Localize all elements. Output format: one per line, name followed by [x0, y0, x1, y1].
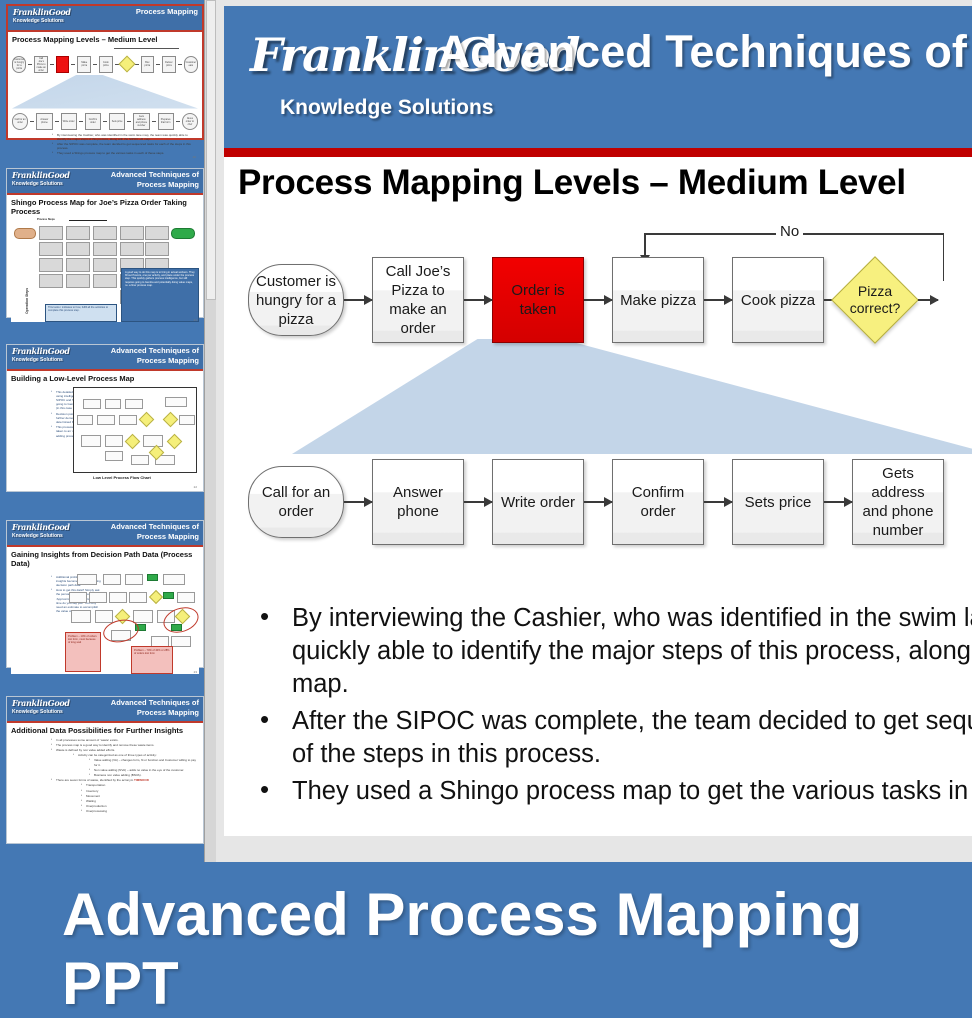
node	[125, 574, 143, 585]
bullet-item-3: They used a Shingo process map to get th…	[238, 775, 972, 808]
deck-header-title: Advanced Techniques of Process Mapping	[438, 26, 972, 78]
node	[95, 610, 113, 623]
flow-connector	[824, 501, 852, 503]
node	[89, 592, 107, 603]
thumbnail-bullet-list: By interviewing the Cashier, who was ide…	[12, 133, 198, 156]
list-item: They used a Shingo process map to get th…	[52, 151, 198, 155]
brand-logo-mini: FranklinGood Knowledge Solutions	[12, 347, 70, 365]
node	[66, 258, 90, 272]
node	[105, 399, 121, 409]
divider-red-bar	[224, 148, 972, 157]
mini-connector	[30, 121, 34, 122]
node	[179, 415, 195, 425]
thumbnail-slide-1[interactable]: FranklinGood Knowledge Solutions Process…	[6, 4, 204, 140]
page-title: Process Mapping Levels – Medium Level	[238, 163, 972, 203]
axis-label-x: Process Steps	[37, 218, 55, 221]
brand-tagline-mini: Knowledge Solutions	[13, 17, 71, 26]
thumbnail-header-title: Advanced Techniques ofProcess Mapping	[111, 522, 199, 542]
thumbnail-slide-5[interactable]: FranklinGood Knowledge Solutions Advance…	[6, 696, 204, 844]
flow-node-write-order: Write order	[492, 459, 584, 545]
node	[97, 415, 115, 425]
thumbnail-header: FranklinGood Knowledge Solutions Advance…	[7, 169, 203, 193]
flow-node-call-order: Call for an order	[248, 466, 344, 538]
mini-node: Deliver pizza	[162, 56, 176, 73]
acronym-timwood: TIMWOOD	[134, 778, 149, 782]
flow-node-cook: Cook pizza	[732, 257, 824, 343]
thumbnail-slide-title: Gaining Insights from Decision Path Data…	[11, 550, 199, 568]
bullet-line: quickly able to identify the major steps…	[292, 637, 972, 665]
list-item: The process map is a good way to identif…	[51, 743, 199, 747]
mini-node: Call for an order	[12, 113, 28, 130]
list-item: Value adding (VA) – changes form, fit or…	[89, 758, 199, 766]
node	[93, 226, 117, 240]
flow-connector	[704, 299, 732, 301]
callout-right: A good way to do this map is to bring in…	[121, 268, 199, 322]
bullet-line: of the steps in this process.	[292, 740, 601, 768]
bullet-line: map.	[292, 670, 349, 698]
mini-node-highlight: Order is taken	[56, 56, 70, 73]
thumbnail-header: FranklinGood Knowledge Solutions Advance…	[7, 521, 203, 545]
thumbnail-page-number: 20	[193, 155, 196, 159]
thumbnail-body: Additional Data Possibilities for Furthe…	[7, 723, 203, 819]
node	[119, 415, 137, 425]
thumbnail-slide-title: Shingo Process Map for Joe’s Pizza Order…	[11, 198, 199, 216]
node	[66, 242, 90, 256]
thumbnail-page-number: 21	[194, 318, 197, 322]
list-item: Inventory	[81, 789, 199, 793]
thumbnail-artwork: Additional problem/root cause insights b…	[11, 570, 199, 674]
list-item: Transportation	[81, 783, 199, 787]
mini-zoom-fan	[12, 75, 198, 109]
slide-header: FranklinGood Knowledge Solutions Advance…	[224, 6, 972, 148]
slide-canvas[interactable]: FranklinGood Knowledge Solutions Advance…	[224, 6, 972, 836]
flow-node-label: Order is taken	[497, 281, 579, 319]
node	[105, 435, 123, 447]
mini-connector	[176, 121, 180, 122]
node	[163, 574, 185, 585]
node	[81, 435, 101, 447]
brand-tagline-mini: Knowledge Solutions	[12, 356, 70, 365]
callout-text: Problem – 70% of 40% or 28% of orders lo…	[134, 649, 170, 656]
node	[93, 274, 117, 288]
feedback-loop-no: No	[644, 221, 944, 257]
mini-node: Gets address and phone number	[133, 113, 149, 130]
node	[109, 592, 127, 603]
thumbnail-header: FranklinGood Knowledge Solutions Advance…	[7, 697, 203, 721]
thumbnail-header-title: Advanced Techniques ofProcess Mapping	[111, 698, 199, 718]
loop-label-no: No	[776, 223, 803, 240]
mini-node: Cook pizza	[99, 56, 113, 73]
mini-node: Confirm order	[85, 113, 101, 130]
list-item: Activity can be categorized as one of th…	[73, 753, 199, 757]
node	[103, 574, 121, 585]
node	[131, 455, 149, 465]
flow-connector	[704, 501, 732, 503]
node	[177, 592, 195, 603]
thumbnail-page-number: 23	[194, 670, 197, 674]
flow-node-gets-address: Gets address and phone number	[852, 459, 944, 545]
flow-node-sets-price: Sets price	[732, 459, 824, 545]
flow-connector	[584, 501, 612, 503]
node	[39, 242, 63, 256]
mini-flow-row-bottom: Call for an order Answer phone Write ord…	[12, 113, 198, 130]
list-item: Business non value adding (BNVA).	[89, 773, 199, 777]
node	[145, 242, 169, 256]
node	[66, 274, 90, 288]
mini-connector	[156, 64, 160, 65]
node	[143, 435, 163, 447]
flow-node-order-highlight: Order is taken	[492, 257, 584, 343]
thumbnail-header-title: Advanced Techniques ofProcess Mapping	[111, 346, 199, 366]
thumbnail-body: Process Mapping Levels – Medium Level Cu…	[8, 32, 202, 161]
mini-connector	[178, 64, 182, 65]
callout-text: This looks / indicates to how, fulfill a…	[48, 306, 114, 313]
slide-bullets: By interviewing the Cashier, who was ide…	[238, 602, 972, 812]
mini-connector	[71, 64, 75, 65]
list-item: Overproduction	[81, 804, 199, 808]
data-badge	[147, 574, 158, 581]
thumbnail-slide-title: Process Mapping Levels – Medium Level	[12, 35, 198, 44]
mini-flow-row-top: Customer is hungry for a pizza Call Joe’…	[12, 56, 198, 73]
brand-logo-mini: FranklinGood Knowledge Solutions	[13, 8, 71, 26]
brand-logo-mini: FranklinGood Knowledge Solutions	[12, 699, 70, 717]
mini-node: Customer eats	[184, 56, 198, 73]
node	[77, 415, 93, 425]
brand-logo-mini: FranklinGood Knowledge Solutions	[12, 523, 70, 541]
mini-connector	[103, 121, 107, 122]
thumbnail-page-number: 22	[194, 485, 197, 489]
scrollbar-thumb[interactable]	[206, 0, 216, 300]
thumbnail-slide-3[interactable]: FranklinGood Knowledge Solutions Advance…	[6, 344, 204, 492]
flow-node-decision: Pizza correct?	[831, 256, 919, 344]
node	[120, 242, 144, 256]
flow-connector	[584, 299, 612, 301]
list-item: Waiting	[81, 799, 199, 803]
mini-feedback-line	[12, 46, 198, 52]
mini-connector	[127, 121, 131, 122]
node	[120, 226, 144, 240]
node	[145, 226, 169, 240]
mini-connector	[152, 121, 156, 122]
node	[66, 226, 90, 240]
slide-viewport: FranklinGood Knowledge Solutions Advance…	[216, 0, 972, 862]
flow-connector	[918, 299, 938, 301]
flow-node-confirm-order: Confirm order	[612, 459, 704, 545]
mini-node: Write order	[61, 113, 77, 130]
thumbnail-header-title: Process Mapping	[136, 7, 198, 17]
thumbnail-body: Shingo Process Map for Joe’s Pizza Order…	[7, 195, 203, 324]
node	[171, 636, 191, 647]
node	[39, 274, 63, 288]
flow-row-bottom: Call for an order Answer phone Write ord…	[248, 459, 944, 545]
thumbnail-body: Gaining Insights from Decision Path Data…	[7, 547, 203, 676]
node	[125, 399, 143, 409]
node-decision	[149, 589, 163, 603]
flow-node-label: Pizza correct?	[849, 283, 901, 317]
node	[105, 451, 123, 461]
thumbnail-rail[interactable]: FranklinGood Knowledge Solutions Process…	[0, 0, 216, 862]
callout-text: A good way to do this map is to bring in…	[125, 271, 195, 288]
flow-diagram: No Customer is hungry for a pizza Call J…	[224, 209, 972, 539]
thumbnail-header: FranklinGood Knowledge Solutions Advance…	[7, 345, 203, 369]
flow-connector	[464, 299, 492, 301]
mini-node-decision	[118, 56, 135, 73]
axis-label-y: Operation Steps	[25, 287, 29, 313]
list-item: After the SIPOC was complete, the team d…	[52, 142, 198, 150]
node	[93, 258, 117, 272]
node	[39, 226, 63, 240]
node	[93, 242, 117, 256]
data-badge	[163, 592, 174, 599]
thumbnail-slide-title: Additional Data Possibilities for Furthe…	[11, 726, 199, 735]
list-item: Non value adding (NVA) – adds no value i…	[89, 768, 199, 772]
callout-problem-1: Problem – 10% of orders lost form, must …	[65, 632, 101, 672]
thumbnail-header: FranklinGood Knowledge Solutions Process…	[8, 6, 202, 30]
list-item: Overprocessing	[81, 809, 199, 813]
node-end	[171, 228, 195, 239]
thumbnail-slide-2[interactable]: FranklinGood Knowledge Solutions Advance…	[6, 168, 204, 318]
mini-connector	[93, 64, 97, 65]
thumbnail-body: Building a Low-Level Process Map This de…	[7, 371, 203, 491]
mini-node: Gives order to chef	[182, 113, 198, 130]
thumbnail-slide-4[interactable]: FranklinGood Knowledge Solutions Advance…	[6, 520, 204, 668]
bullet-item-2: After the SIPOC was complete, the team d…	[238, 705, 972, 771]
list-item: There are seven forms of waste, identifi…	[51, 778, 199, 782]
flow-node-start: Customer is hungry for a pizza	[248, 264, 344, 336]
mini-node: Answer phone	[36, 113, 52, 130]
mini-connector	[28, 64, 32, 65]
mini-connector	[55, 121, 59, 122]
callout-text: Problem – 10% of orders lost form, must …	[68, 635, 98, 645]
node	[83, 399, 101, 409]
node	[69, 592, 87, 603]
flow-node-call: Call Joe’s Pizza to make an order	[372, 257, 464, 343]
brand-tagline-mini: Knowledge Solutions	[12, 708, 70, 717]
mini-node: Call Joe’s Pizza to make an order	[34, 56, 48, 73]
brand-tagline: Knowledge Solutions	[280, 96, 494, 120]
deck-caption: Advanced Process Mapping PPT	[62, 880, 972, 1018]
node	[39, 258, 63, 272]
loop-line-right	[943, 233, 945, 281]
thumbnail-artwork: Process Steps Operation Steps	[11, 218, 199, 322]
thumbnail-artwork: This detailed map can be combined using …	[11, 385, 199, 489]
bullet-item-1: By interviewing the Cashier, who was ide…	[238, 602, 972, 701]
list-item: In all processes some amount of ‘waste’ …	[51, 738, 199, 742]
callout-problem-2: Problem – 70% of 40% or 28% of orders lo…	[131, 646, 173, 674]
thumbnail-slide-title: Building a Low-Level Process Map	[11, 374, 199, 383]
flow-row-top: Customer is hungry for a pizza Call Joe’…	[248, 257, 938, 343]
node	[165, 397, 187, 407]
brand-tagline-mini: Knowledge Solutions	[12, 532, 70, 541]
brand-tagline-mini: Knowledge Solutions	[12, 180, 70, 189]
annotation-ellipse	[160, 603, 202, 637]
mini-node: Customer is hungry for a pizza	[12, 56, 26, 73]
bullet-line: By interviewing the Cashier, who was ide…	[292, 604, 972, 632]
node	[71, 610, 91, 623]
brand-logo-mini: FranklinGood Knowledge Solutions	[12, 171, 70, 189]
axis-arrow-x	[69, 220, 107, 221]
flow-node-answer-phone: Answer phone	[372, 459, 464, 545]
mini-node: Sets price	[109, 113, 125, 130]
mini-connector	[50, 64, 54, 65]
list-item: By interviewing the Cashier, who was ide…	[52, 133, 198, 141]
bullet-line: After the SIPOC was complete, the team d…	[292, 707, 972, 735]
bullet-line: They used a Shingo process map to get th…	[292, 777, 972, 805]
node	[133, 610, 153, 623]
node	[129, 592, 147, 603]
mini-node: Prepares that form	[158, 113, 174, 130]
callout-left: This looks / indicates to how, fulfill a…	[45, 304, 117, 322]
flow-node-make: Make pizza	[612, 257, 704, 343]
thumbnail-header-title: Advanced Techniques ofProcess Mapping	[111, 170, 199, 190]
mini-node: Box pizza	[141, 56, 155, 73]
node-start	[14, 228, 36, 239]
mini-connector	[79, 121, 83, 122]
mini-node: Make pizza	[77, 56, 91, 73]
chart-caption: Low Level Process Flow Chart	[93, 475, 151, 480]
list-item: Movement	[81, 794, 199, 798]
flow-connector	[344, 501, 372, 503]
flow-connector	[344, 299, 372, 301]
bullet-list: By interviewing the Cashier, who was ide…	[238, 602, 972, 808]
thumbnail-bullet-list: In all processes some amount of ‘waste’ …	[11, 738, 199, 814]
zoom-fan-shape	[292, 339, 972, 454]
loop-line-left	[644, 233, 646, 257]
flow-connector	[464, 501, 492, 503]
bottom-banner: Advanced Process Mapping PPT	[0, 862, 972, 972]
node	[77, 574, 97, 585]
